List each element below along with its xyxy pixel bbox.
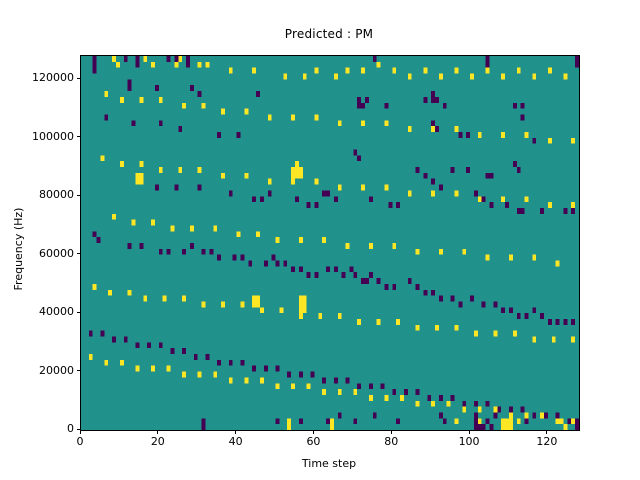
y-tick-mark bbox=[77, 253, 81, 254]
y-tick-mark bbox=[77, 370, 81, 371]
y-tick-label: 120000 bbox=[32, 71, 74, 85]
y-tick-mark bbox=[77, 136, 81, 137]
x-tick-label: 60 bbox=[306, 435, 320, 449]
x-axis-label: Time step bbox=[80, 457, 578, 471]
x-tick-mark bbox=[391, 430, 392, 434]
y-tick-label: 80000 bbox=[39, 188, 74, 202]
page-title: Predicted : PM bbox=[80, 27, 578, 41]
x-tick-mark bbox=[313, 430, 314, 434]
x-tick-mark bbox=[469, 430, 470, 434]
heatmap-canvas[interactable] bbox=[81, 56, 579, 430]
matplotlib-figure: Predicted : PM Frequency (Hz) 0200004000… bbox=[0, 0, 640, 480]
y-tick-label: 100000 bbox=[32, 130, 74, 144]
y-tick-mark bbox=[77, 312, 81, 313]
x-tick-mark bbox=[235, 430, 236, 434]
x-tick-label: 100 bbox=[459, 435, 480, 449]
y-tick-label: 60000 bbox=[39, 247, 74, 261]
x-tick-mark bbox=[157, 430, 158, 434]
x-tick-label: 80 bbox=[384, 435, 398, 449]
heatmap-plot-area[interactable] bbox=[80, 55, 580, 431]
x-tick-mark bbox=[80, 430, 81, 434]
x-tick-label: 40 bbox=[229, 435, 243, 449]
y-tick-mark bbox=[77, 195, 81, 196]
x-tick-mark bbox=[546, 430, 547, 434]
y-tick-label: 0 bbox=[67, 422, 74, 436]
x-tick-label: 0 bbox=[77, 435, 84, 449]
x-tick-label: 120 bbox=[536, 435, 557, 449]
y-tick-mark bbox=[77, 78, 81, 79]
x-tick-label: 20 bbox=[151, 435, 165, 449]
y-axis-label: Frequency (Hz) bbox=[12, 62, 26, 436]
y-tick-label: 40000 bbox=[39, 305, 74, 319]
y-tick-label: 20000 bbox=[39, 364, 74, 378]
